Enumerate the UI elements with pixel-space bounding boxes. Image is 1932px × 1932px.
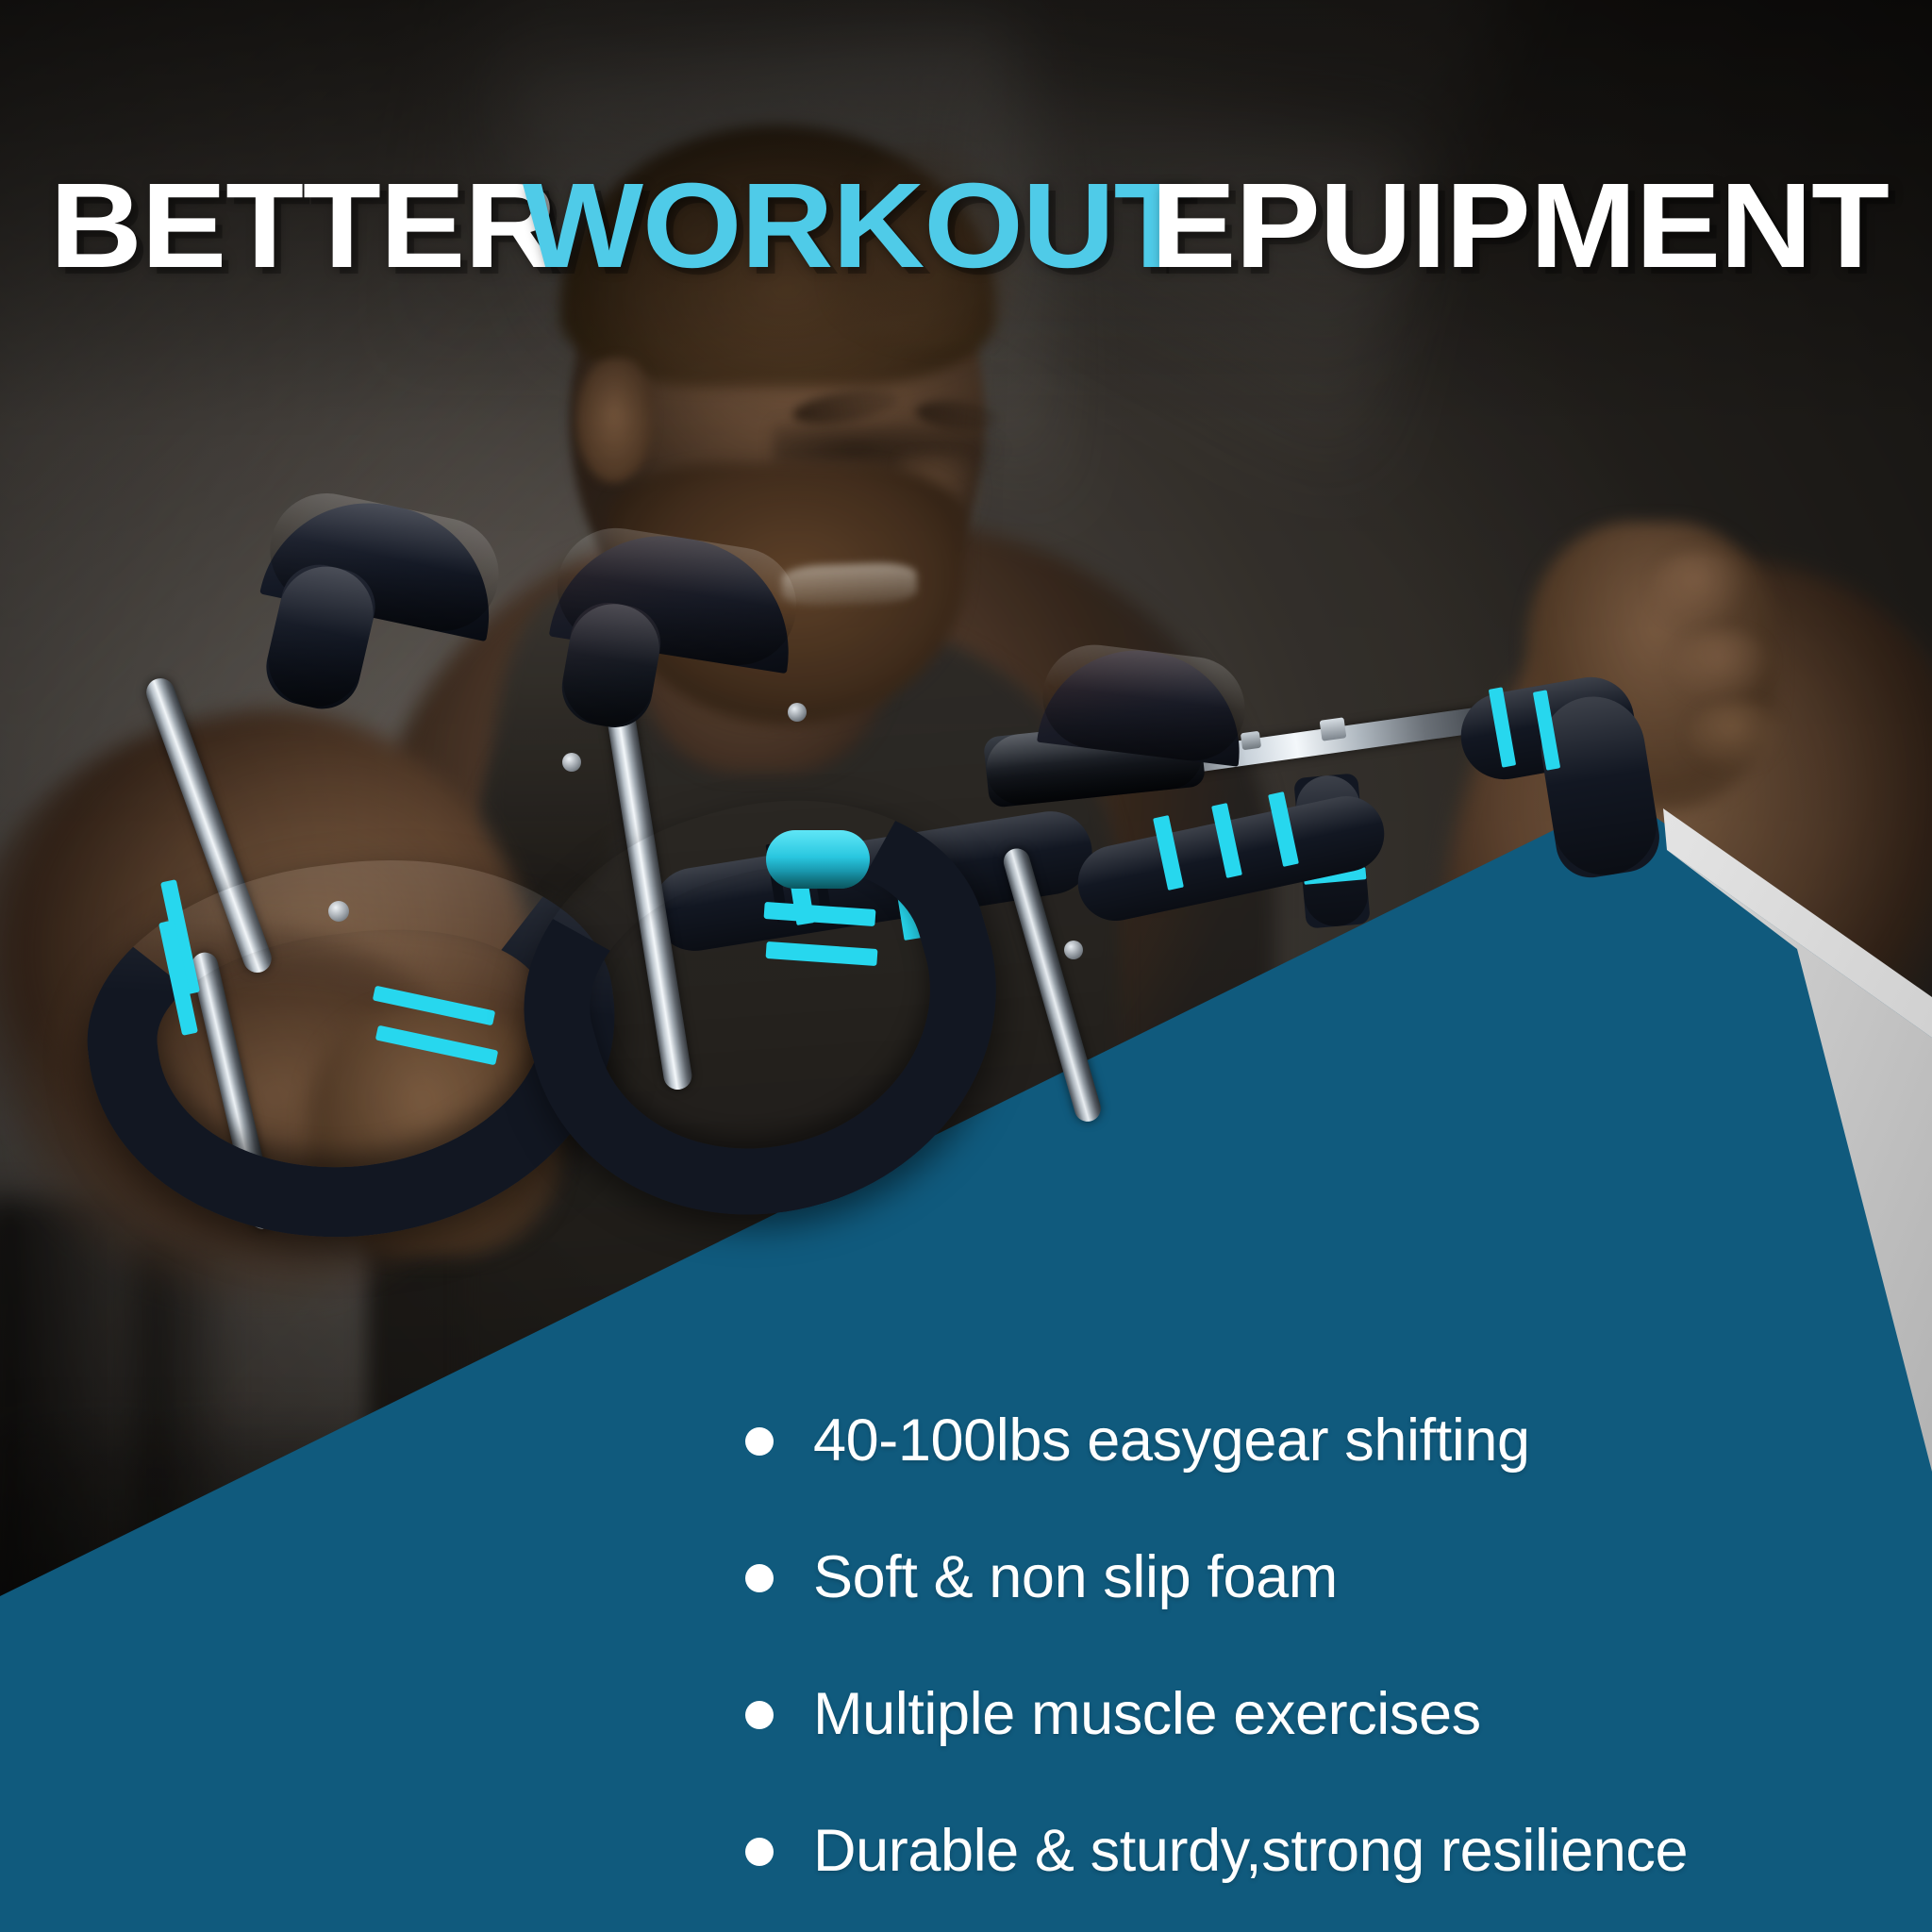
list-item: 40-100lbs easygear shifting	[745, 1373, 1906, 1509]
feature-bullet-list: 40-100lbs easygear shifting Soft & non s…	[745, 1373, 1906, 1920]
list-item: Soft & non slip foam	[745, 1509, 1906, 1646]
bullet-dot-icon	[745, 1838, 774, 1866]
bullet-dot-icon	[745, 1564, 774, 1592]
list-item: Multiple muscle exercises	[745, 1646, 1906, 1783]
page-title: BETTER WORKOUT EPUIPMENT	[0, 166, 1932, 287]
tube-rivet-3	[788, 703, 807, 722]
tube-rivet-2	[562, 753, 581, 772]
bullet-label: 40-100lbs easygear shifting	[813, 1409, 1530, 1472]
bullet-label: Soft & non slip foam	[813, 1546, 1338, 1608]
right-handle-elbow	[1534, 690, 1664, 883]
banner-canvas: BETTER WORKOUT EPUIPMENT 40-100lbs easyg…	[0, 0, 1932, 1932]
bar-adjustment-collar	[1320, 717, 1347, 741]
bullet-label: Multiple muscle exercises	[813, 1683, 1481, 1745]
headline-part-1: BETTER	[50, 166, 556, 287]
tube-rivet-4	[1064, 941, 1083, 959]
bullet-dot-icon	[745, 1427, 774, 1456]
bullet-label: Durable & sturdy,strong resilience	[813, 1820, 1688, 1882]
center-loop-cyan-cap	[766, 830, 870, 889]
headline-part-3: EPUIPMENT	[1151, 166, 1889, 287]
headline-part-accent: WORKOUT	[523, 166, 1191, 287]
bar-adjustment-collar-2	[1241, 731, 1261, 751]
list-item: Durable & sturdy,strong resilience	[745, 1783, 1906, 1920]
bullet-dot-icon	[745, 1701, 774, 1729]
